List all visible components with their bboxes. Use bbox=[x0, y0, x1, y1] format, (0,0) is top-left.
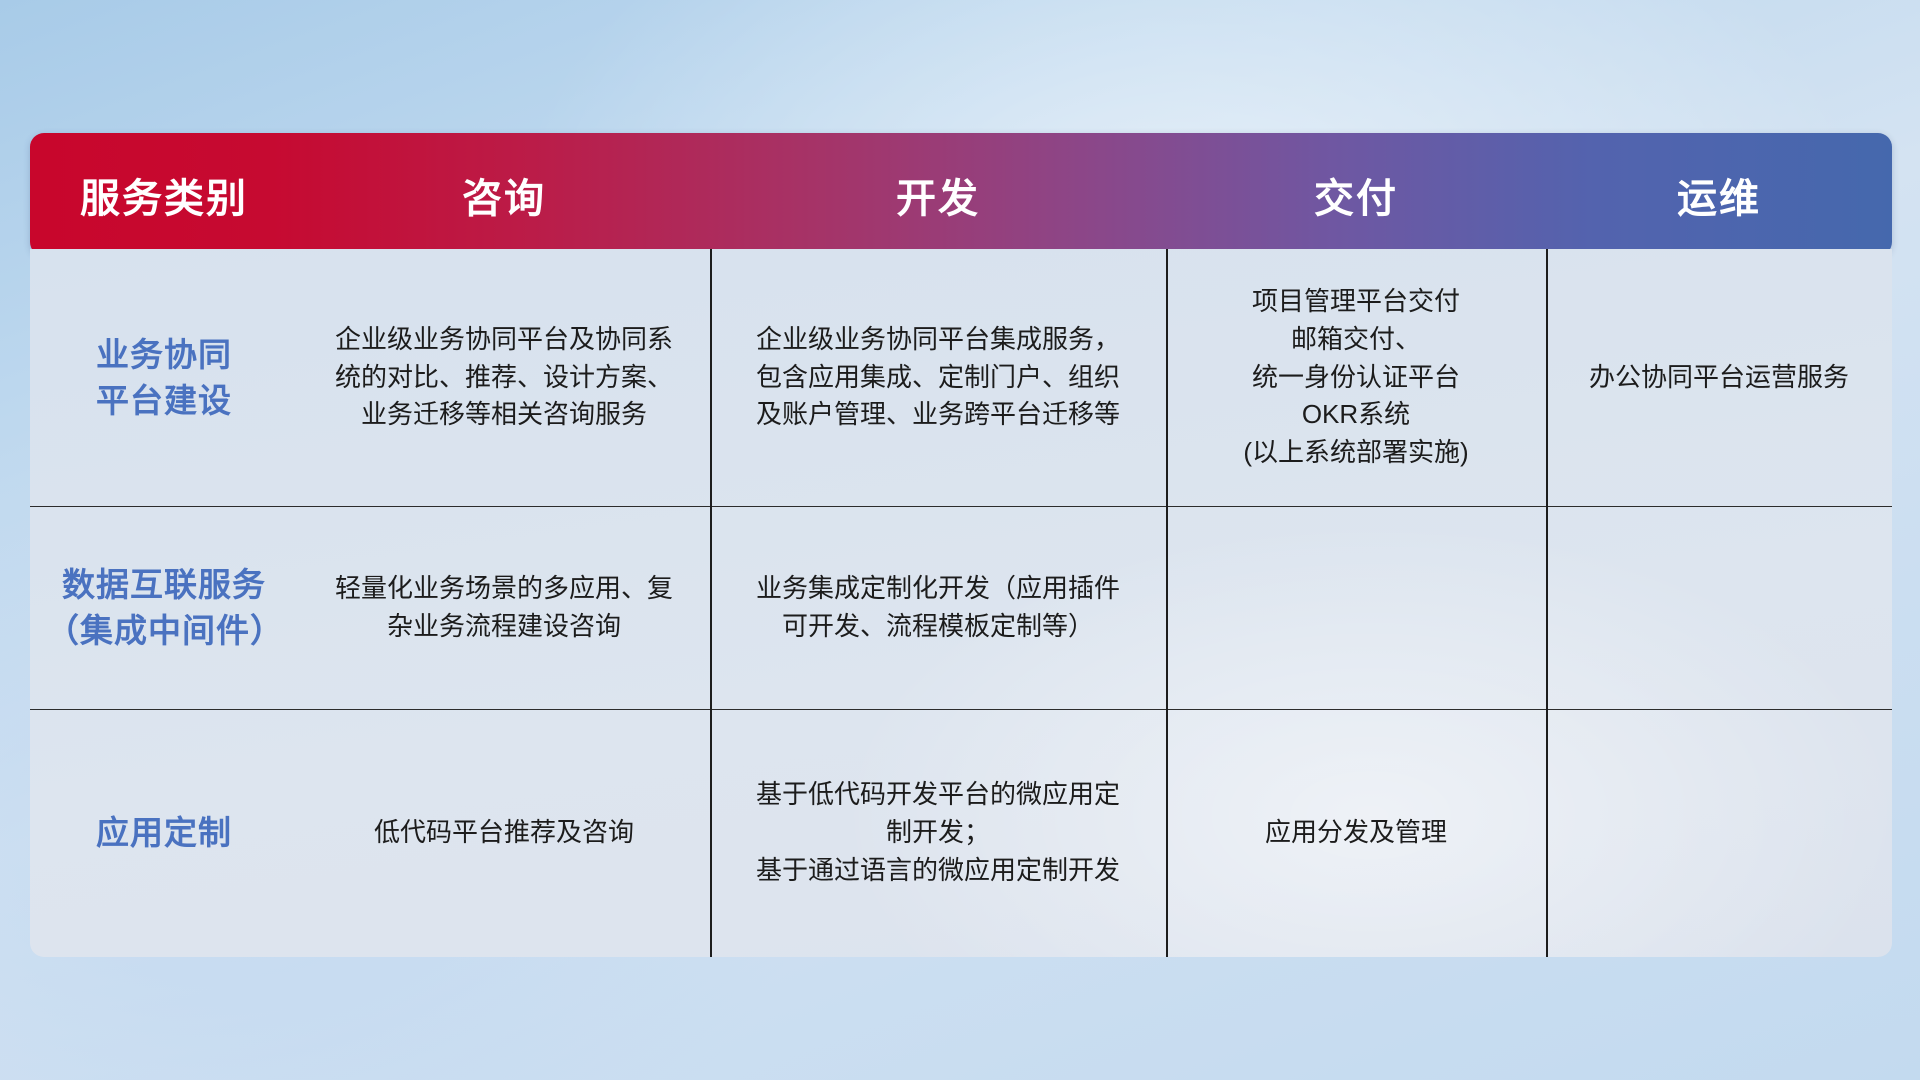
cell-delivery bbox=[1166, 506, 1546, 709]
cell-development: 业务集成定制化开发（应用插件 可开发、流程模板定制等） bbox=[710, 506, 1166, 709]
cell-development: 基于低代码开发平台的微应用定 制开发； 基于通过语言的微应用定制开发 bbox=[710, 709, 1166, 957]
column-header-development: 开发 bbox=[710, 166, 1166, 224]
row-category-cell: 应用定制 bbox=[30, 709, 298, 957]
table-row: 数据互联服务 （集成中间件） 轻量化业务场景的多应用、复 杂业务流程建设咨询 业… bbox=[30, 506, 1892, 709]
column-header-operations: 运维 bbox=[1546, 166, 1892, 224]
cell-text: 应用分发及管理 bbox=[1265, 814, 1447, 852]
row-category-cell: 业务协同 平台建设 bbox=[30, 249, 298, 506]
table-header-row: 服务类别 咨询 开发 交付 运维 bbox=[30, 133, 1892, 256]
service-matrix-table: 服务类别 咨询 开发 交付 运维 业务协同 平台建设 企业级业务协同平台及协同系… bbox=[30, 133, 1892, 957]
category-label: 应用定制 bbox=[96, 810, 232, 856]
cell-consulting: 企业级业务协同平台及协同系 统的对比、推荐、设计方案、 业务迁移等相关咨询服务 bbox=[298, 249, 710, 506]
cell-text: 基于低代码开发平台的微应用定 制开发； 基于通过语言的微应用定制开发 bbox=[756, 776, 1120, 890]
table-body: 业务协同 平台建设 企业级业务协同平台及协同系 统的对比、推荐、设计方案、 业务… bbox=[30, 249, 1892, 957]
column-header-service-category: 服务类别 bbox=[30, 166, 298, 224]
table-row: 应用定制 低代码平台推荐及咨询 基于低代码开发平台的微应用定 制开发； 基于通过… bbox=[30, 709, 1892, 957]
cell-delivery: 项目管理平台交付 邮箱交付、 统一身份认证平台 OKR系统 (以上系统部署实施) bbox=[1166, 249, 1546, 506]
cell-development: 企业级业务协同平台集成服务， 包含应用集成、定制门户、组织 及账户管理、业务跨平… bbox=[710, 249, 1166, 506]
category-label: 业务协同 平台建设 bbox=[96, 332, 232, 423]
column-header-delivery: 交付 bbox=[1166, 166, 1546, 224]
cell-text: 低代码平台推荐及咨询 bbox=[374, 814, 634, 852]
row-category-cell: 数据互联服务 （集成中间件） bbox=[30, 506, 298, 709]
cell-delivery: 应用分发及管理 bbox=[1166, 709, 1546, 957]
cell-operations: 办公协同平台运营服务 bbox=[1546, 249, 1892, 506]
cell-consulting: 轻量化业务场景的多应用、复 杂业务流程建设咨询 bbox=[298, 506, 710, 709]
cell-operations bbox=[1546, 506, 1892, 709]
cell-text: 企业级业务协同平台及协同系 统的对比、推荐、设计方案、 业务迁移等相关咨询服务 bbox=[335, 321, 673, 435]
cell-consulting: 低代码平台推荐及咨询 bbox=[298, 709, 710, 957]
category-label: 数据互联服务 （集成中间件） bbox=[46, 562, 282, 653]
cell-text: 轻量化业务场景的多应用、复 杂业务流程建设咨询 bbox=[335, 570, 673, 646]
cell-text: 企业级业务协同平台集成服务， 包含应用集成、定制门户、组织 及账户管理、业务跨平… bbox=[756, 321, 1120, 435]
cell-text: 项目管理平台交付 邮箱交付、 统一身份认证平台 OKR系统 (以上系统部署实施) bbox=[1243, 283, 1468, 473]
cell-text: 办公协同平台运营服务 bbox=[1589, 359, 1849, 397]
column-header-consulting: 咨询 bbox=[298, 166, 710, 224]
cell-text: 业务集成定制化开发（应用插件 可开发、流程模板定制等） bbox=[756, 570, 1120, 646]
cell-operations bbox=[1546, 709, 1892, 957]
table-row: 业务协同 平台建设 企业级业务协同平台及协同系 统的对比、推荐、设计方案、 业务… bbox=[30, 249, 1892, 506]
